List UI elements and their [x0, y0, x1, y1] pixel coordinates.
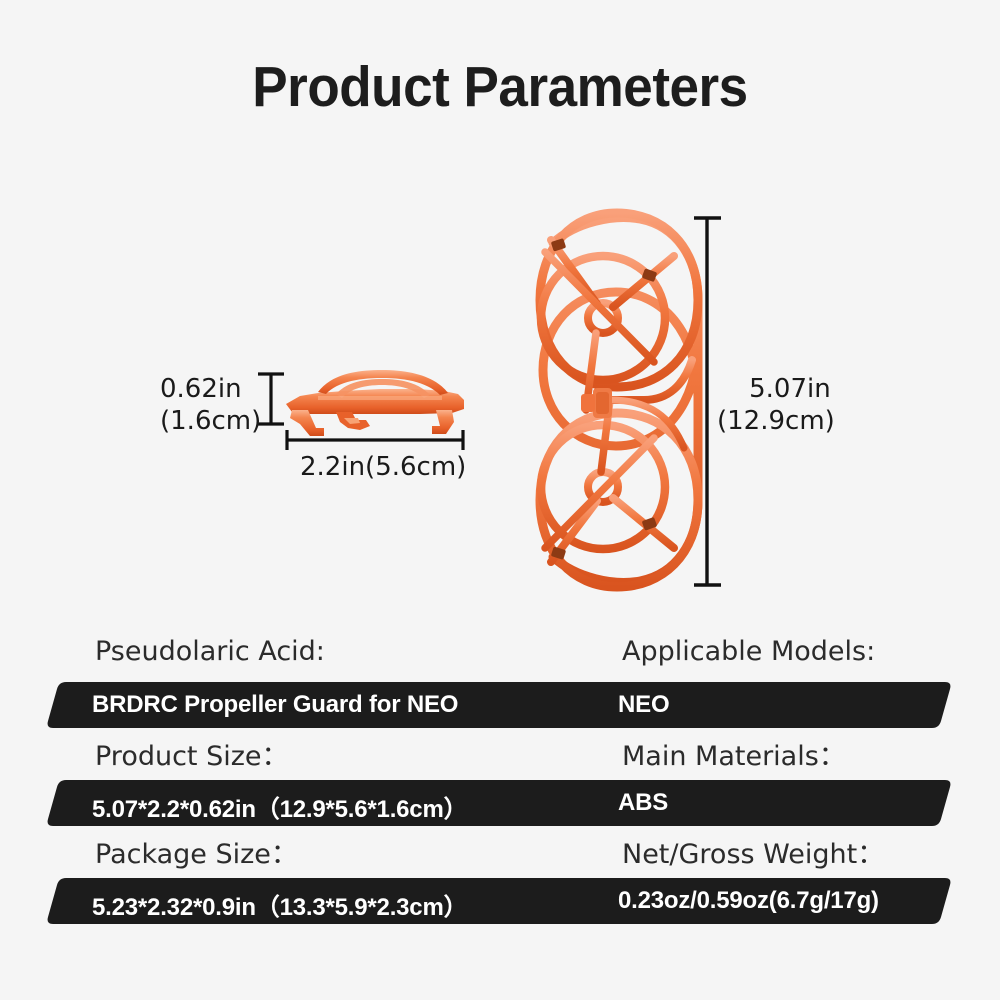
- side-height-inches: 0.62in: [160, 374, 261, 406]
- spec-value-right: ABS: [618, 789, 668, 817]
- dimension-label-side-height: 0.62in (1.6cm): [160, 374, 261, 437]
- spec-row: Package Size： Net/Gross Weight： 5.23*2.3…: [0, 832, 1000, 930]
- spec-row-labels: Pseudolaric Acid: Applicable Models:: [0, 636, 1000, 680]
- spec-row-labels: Package Size： Net/Gross Weight：: [0, 832, 1000, 876]
- spec-label-left: Pseudolaric Acid:: [95, 636, 325, 667]
- product-parameters-page: Product Parameters: [0, 0, 1000, 1000]
- spec-label-right: Applicable Models:: [622, 636, 875, 667]
- product-illustration-svg: [0, 0, 1000, 620]
- spec-label-right: Main Materials：: [622, 734, 846, 773]
- spec-value-left: BRDRC Propeller Guard for NEO: [92, 691, 458, 719]
- spec-label-left: Product Size：: [95, 734, 289, 773]
- spec-label-left: Package Size：: [95, 832, 298, 871]
- spec-value-bar: 5.07*2.2*0.62in（12.9*5.6*1.6cm） ABS: [0, 780, 1000, 826]
- propeller-guard-side-view: [286, 370, 464, 436]
- top-height-inches: 5.07in: [745, 374, 835, 406]
- dimension-label-side-width: 2.2in(5.6cm): [300, 452, 466, 484]
- spec-value-right: 0.23oz/0.59oz(6.7g/17g): [618, 887, 879, 915]
- dimension-label-top-height: 5.07in (12.9cm): [745, 374, 835, 437]
- spec-value-bar: 5.23*2.32*0.9in（13.3*5.9*2.3cm） 0.23oz/0…: [0, 878, 1000, 924]
- specifications-table: Pseudolaric Acid: Applicable Models: BRD…: [0, 636, 1000, 930]
- product-illustration-area: 0.62in (1.6cm) 2.2in(5.6cm) 5.07in (12.9…: [0, 0, 1000, 620]
- propeller-guard-top-view: [540, 213, 698, 587]
- spec-row: Pseudolaric Acid: Applicable Models: BRD…: [0, 636, 1000, 734]
- spec-row-labels: Product Size： Main Materials：: [0, 734, 1000, 778]
- spec-value-bar: BRDRC Propeller Guard for NEO NEO: [0, 682, 1000, 728]
- spec-row: Product Size： Main Materials： 5.07*2.2*0…: [0, 734, 1000, 832]
- spec-value-left: 5.23*2.32*0.9in（13.3*5.9*2.3cm）: [92, 887, 467, 922]
- spec-value-right: NEO: [618, 691, 669, 719]
- top-height-cm: (12.9cm): [717, 406, 835, 438]
- spec-label-right: Net/Gross Weight：: [622, 832, 884, 871]
- side-height-cm: (1.6cm): [160, 406, 261, 438]
- spec-value-left: 5.07*2.2*0.62in（12.9*5.6*1.6cm）: [92, 789, 467, 824]
- dimension-line-side-height: [258, 374, 284, 424]
